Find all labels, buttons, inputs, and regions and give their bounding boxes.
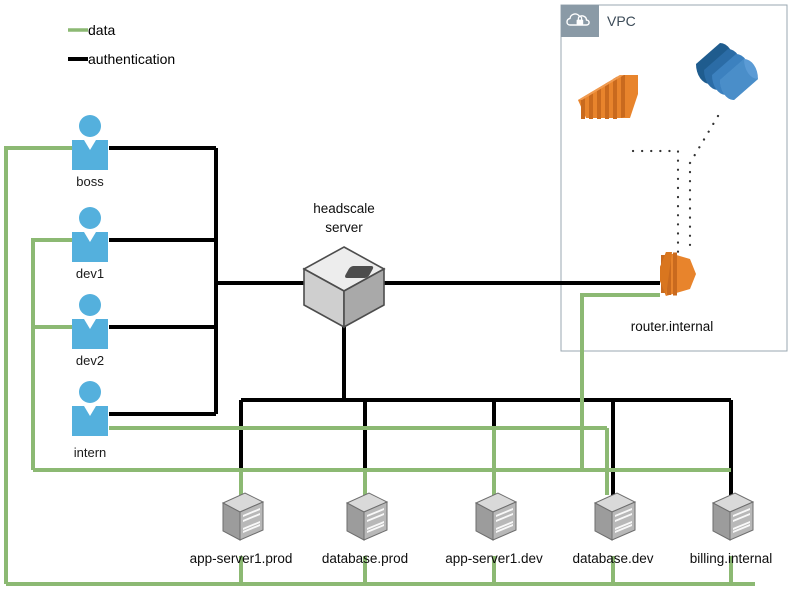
network-diagram: VPC <box>0 0 792 593</box>
router-label: router.internal <box>631 319 714 334</box>
server-database-dev-label: database.dev <box>572 551 653 566</box>
user-boss[interactable] <box>72 115 108 170</box>
user-dev2[interactable] <box>72 294 108 349</box>
user-dev2-label: dev2 <box>76 353 104 368</box>
user-boss-label: boss <box>76 174 104 189</box>
server-database-prod[interactable]: database.prod <box>322 493 408 566</box>
diagram-canvas: VPC <box>0 0 792 593</box>
headscale-label-line2: server <box>325 220 363 235</box>
headscale-label-line1: headscale <box>313 201 375 216</box>
server-billing-internal-label: billing.internal <box>690 551 773 566</box>
server-app-server1-dev[interactable]: app-server1.dev <box>445 493 543 566</box>
server-billing-internal[interactable]: billing.internal <box>690 493 773 566</box>
user-dev1[interactable] <box>72 207 108 262</box>
server-database-dev[interactable]: database.dev <box>572 493 653 566</box>
legend-authentication-label: authentication <box>88 51 175 67</box>
server-app-server1-prod-label: app-server1.prod <box>190 551 293 566</box>
user-dev1-label: dev1 <box>76 266 104 281</box>
headscale-server[interactable]: headscale server <box>304 201 384 327</box>
legend-data-label: data <box>88 22 115 38</box>
server-app-server1-prod[interactable]: app-server1.prod <box>190 493 293 566</box>
server-app-server1-dev-label: app-server1.dev <box>445 551 543 566</box>
vpc-label: VPC <box>607 13 636 29</box>
legend-authentication: authentication <box>68 51 175 67</box>
user-intern-label: intern <box>74 445 107 460</box>
user-intern[interactable] <box>72 381 108 436</box>
legend-data: data <box>68 22 115 38</box>
vpc-container: VPC <box>561 5 787 351</box>
server-database-prod-label: database.prod <box>322 551 408 566</box>
vpc-border <box>561 5 787 351</box>
legend: data authentication <box>68 22 175 67</box>
